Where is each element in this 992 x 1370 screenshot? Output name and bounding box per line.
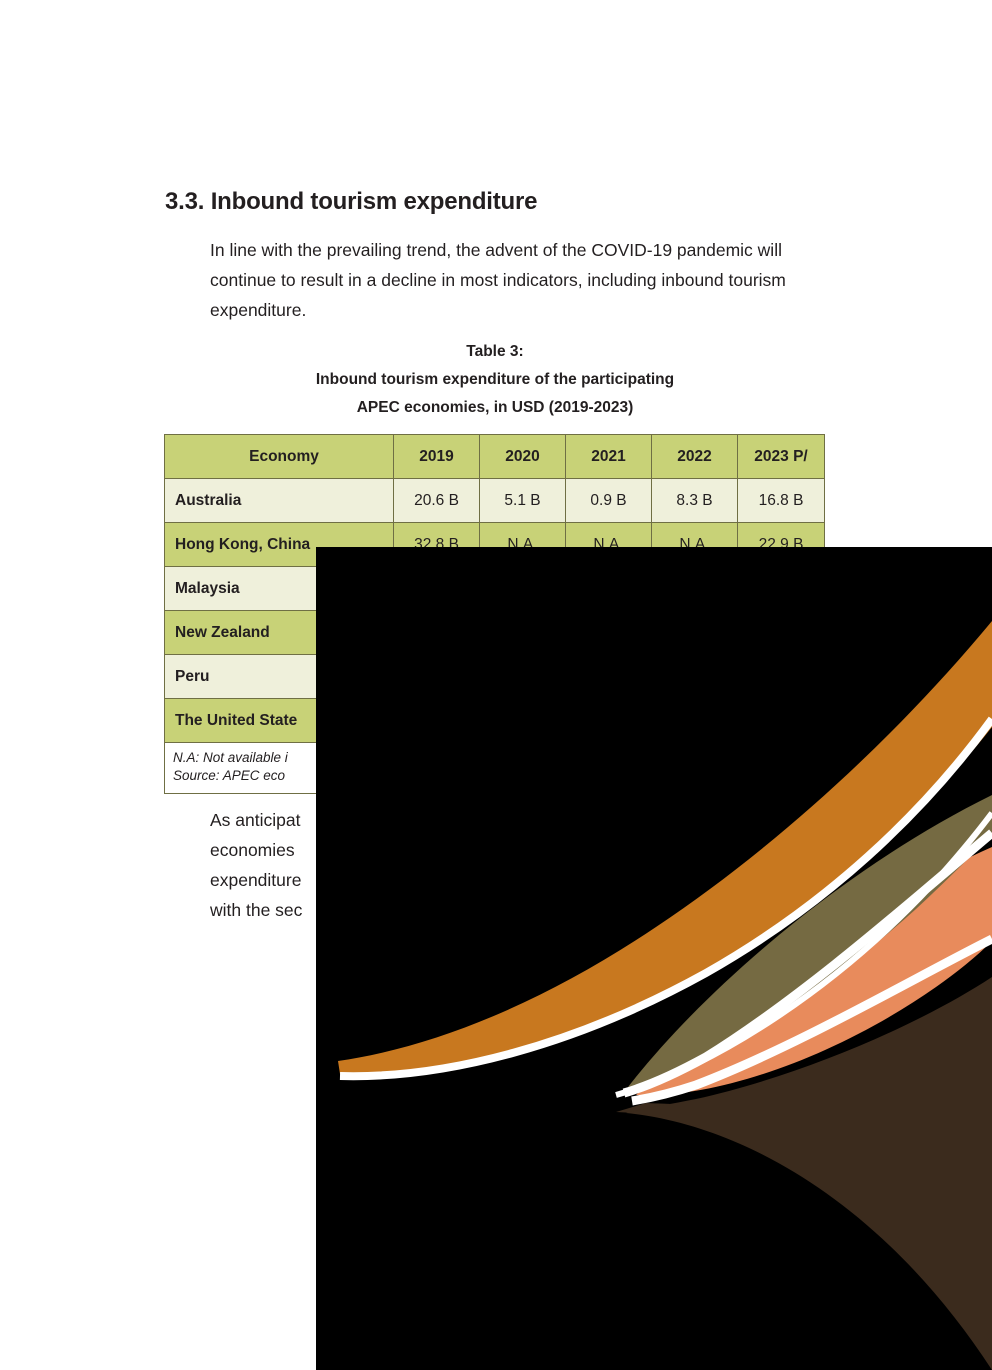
- table-caption: Table 3: Inbound tourism expenditure of …: [165, 338, 825, 422]
- ribbon-artwork-svg: [316, 547, 992, 1370]
- column-header-2022: 2022: [652, 435, 738, 479]
- cell-2019: 20.6 B: [394, 479, 480, 523]
- table-caption-line-1: Table 3:: [165, 338, 825, 366]
- column-header-2020: 2020: [480, 435, 566, 479]
- table-header-row: Economy 2019 2020 2021 2022 2023 P/: [165, 435, 825, 479]
- cell-economy: Australia: [165, 479, 394, 523]
- cell-2021: 0.9 B: [566, 479, 652, 523]
- column-header-2021: 2021: [566, 435, 652, 479]
- column-header-2019: 2019: [394, 435, 480, 479]
- page-root: 3.3. Inbound tourism expenditure In line…: [0, 0, 992, 1370]
- intro-paragraph: In line with the prevailing trend, the a…: [210, 235, 835, 325]
- table-caption-line-3: APEC economies, in USD (2019-2023): [165, 394, 825, 422]
- cell-2023: 16.8 B: [738, 479, 825, 523]
- cell-2022: 8.3 B: [652, 479, 738, 523]
- table-header: Economy 2019 2020 2021 2022 2023 P/: [165, 435, 825, 479]
- decorative-artwork-overlay: [316, 547, 992, 1370]
- cell-2020: 5.1 B: [480, 479, 566, 523]
- table-row: Australia 20.6 B 5.1 B 0.9 B 8.3 B 16.8 …: [165, 479, 825, 523]
- table-caption-line-2: Inbound tourism expenditure of the parti…: [165, 366, 825, 394]
- page-title: 3.3. Inbound tourism expenditure: [165, 188, 825, 216]
- column-header-economy: Economy: [165, 435, 394, 479]
- column-header-2023: 2023 P/: [738, 435, 825, 479]
